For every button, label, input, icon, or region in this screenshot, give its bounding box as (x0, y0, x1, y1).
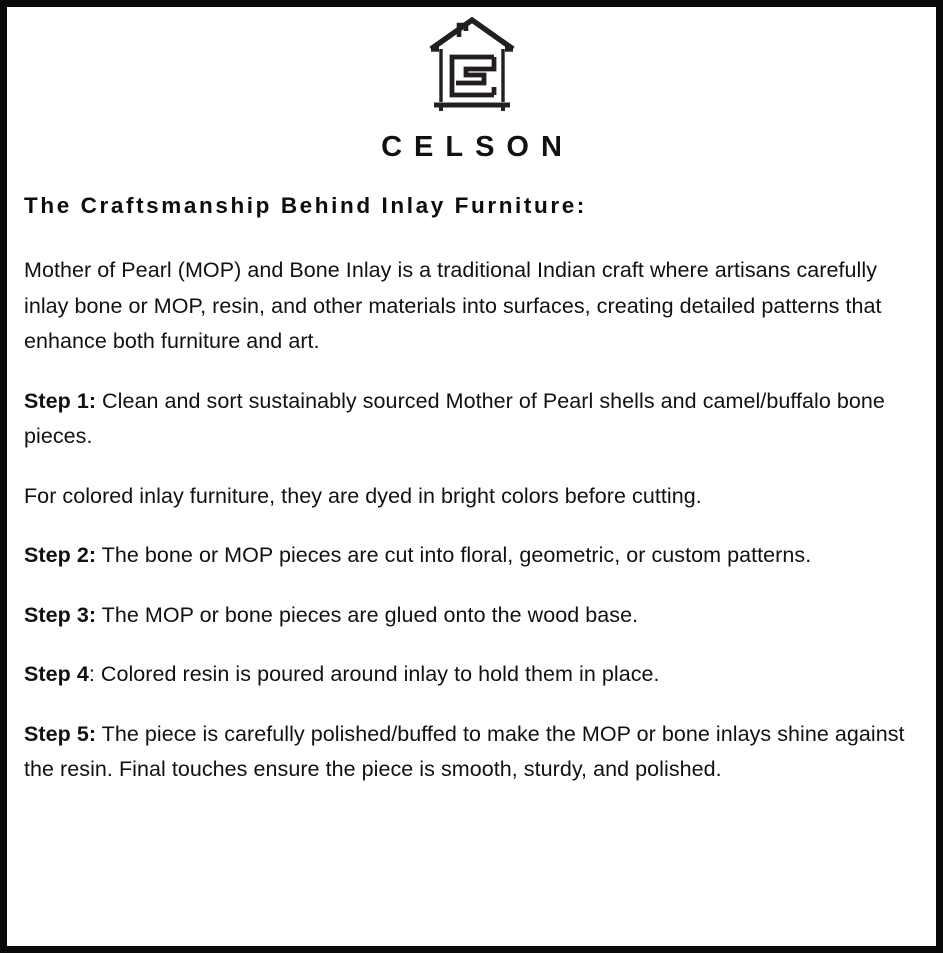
note-paragraph: For colored inlay furniture, they are dy… (24, 479, 922, 515)
step-4-text: : Colored resin is poured around inlay t… (89, 662, 660, 686)
step-5-label: Step 5: (24, 722, 96, 746)
step-1-text: Clean and sort sustainably sourced Mothe… (24, 389, 885, 449)
step-4-paragraph: Step 4: Colored resin is poured around i… (24, 657, 922, 693)
step-3-label: Step 3: (24, 603, 96, 627)
intro-paragraph: Mother of Pearl (MOP) and Bone Inlay is … (24, 253, 922, 360)
brand-block: CELSON (21, 13, 922, 162)
step-4-label: Step 4 (24, 662, 89, 686)
step-2-text: The bone or MOP pieces are cut into flor… (96, 543, 811, 567)
step-2-paragraph: Step 2: The bone or MOP pieces are cut i… (24, 538, 922, 574)
step-1-paragraph: Step 1: Clean and sort sustainably sourc… (24, 384, 922, 455)
poster-card: CELSON The Craftsmanship Behind Inlay Fu… (0, 0, 943, 953)
step-5-text: The piece is carefully polished/buffed t… (24, 722, 905, 782)
step-3-paragraph: Step 3: The MOP or bone pieces are glued… (24, 598, 922, 634)
page-title: The Craftsmanship Behind Inlay Furniture… (24, 192, 922, 219)
brand-name: CELSON (21, 133, 922, 162)
step-3-text: The MOP or bone pieces are glued onto th… (96, 603, 638, 627)
step-1-label: Step 1: (24, 389, 96, 413)
article-body: Mother of Pearl (MOP) and Bone Inlay is … (24, 219, 922, 788)
step-5-paragraph: Step 5: The piece is carefully polished/… (24, 717, 922, 788)
house-monogram-logo-icon (426, 17, 518, 117)
step-2-label: Step 2: (24, 543, 96, 567)
